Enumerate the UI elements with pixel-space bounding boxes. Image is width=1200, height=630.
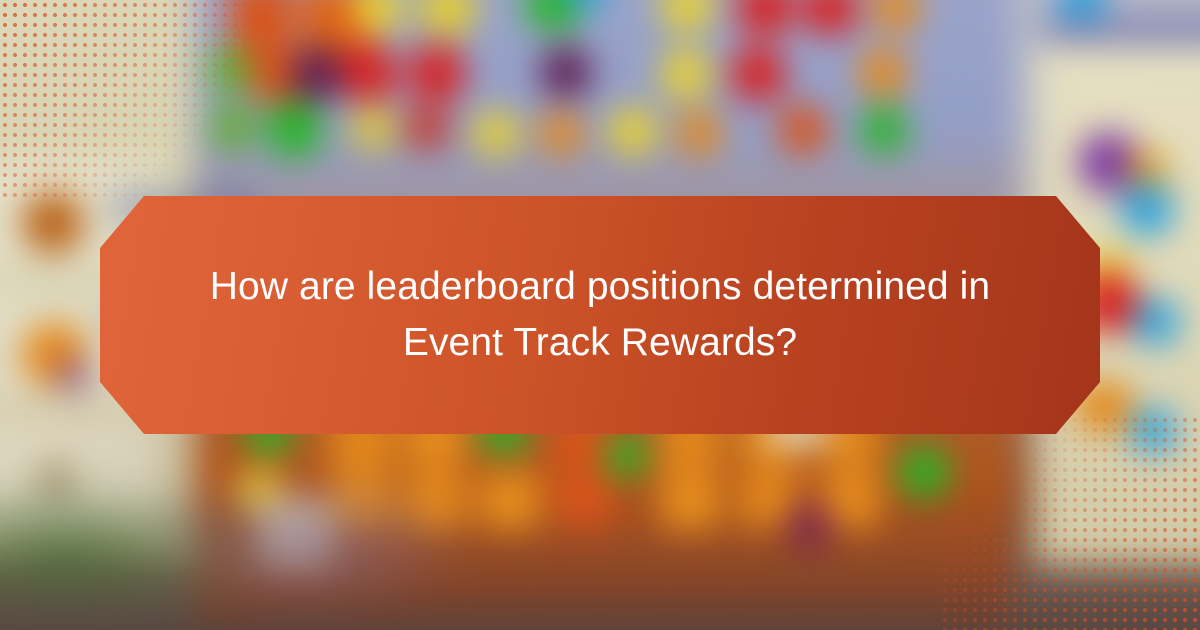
candy-tile	[265, 100, 323, 158]
candy-tile	[608, 106, 658, 156]
candy-tile	[404, 106, 450, 150]
candy-tile	[898, 446, 950, 498]
candy-tile	[350, 106, 396, 150]
candy-tile	[340, 44, 398, 102]
candy-tile	[778, 104, 828, 154]
bottom-shadow-band	[0, 580, 1200, 630]
candy-tile	[472, 110, 520, 156]
candy-tile	[480, 472, 540, 530]
candy-tile	[210, 106, 254, 150]
right-panel-item	[1132, 298, 1180, 346]
candy-tile	[208, 48, 252, 92]
candy-tile	[858, 48, 908, 98]
right-panel-item	[1120, 182, 1174, 236]
candy-tile	[730, 46, 786, 102]
candy-tile	[556, 472, 614, 528]
right-panel-item	[1130, 408, 1176, 454]
left-panel-item	[56, 358, 90, 392]
candy-tile	[290, 46, 346, 102]
question-banner: How are leaderboard positions determined…	[100, 196, 1100, 434]
candy-tile	[676, 110, 722, 156]
candy-tile	[408, 44, 466, 102]
banner-title: How are leaderboard positions determined…	[200, 259, 1000, 371]
left-panel-item	[22, 192, 84, 254]
candy-tile	[860, 106, 908, 154]
candy-tile	[538, 110, 584, 156]
candy-tile	[784, 500, 834, 550]
candy-tile	[230, 0, 292, 50]
candy-tile	[660, 48, 712, 100]
candy-tile	[660, 472, 720, 530]
candy-tile	[540, 46, 592, 98]
share-card: How are leaderboard positions determined…	[0, 0, 1200, 630]
